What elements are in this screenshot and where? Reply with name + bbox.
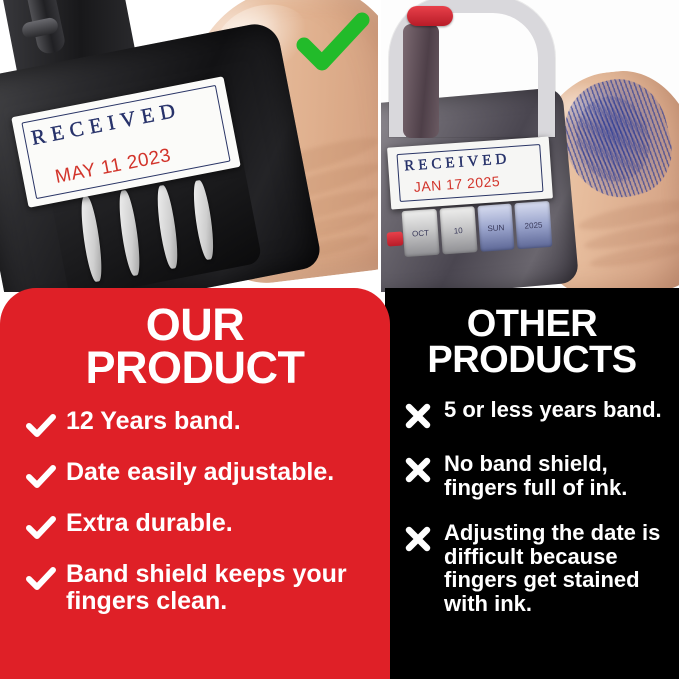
title-line-1: OUR <box>0 303 390 346</box>
drawback-text: 5 or less years band. <box>444 398 662 422</box>
x-icon <box>404 525 432 553</box>
band-lock-pin <box>387 231 404 246</box>
date-band: 10 <box>439 206 477 254</box>
other-products-title: OTHER PRODUCTS <box>385 306 679 379</box>
other-products-drawback-list: 5 or less years band. No band shield, fi… <box>404 398 666 637</box>
feature-text: Date easily adjustable. <box>66 459 334 486</box>
plate-border: RECEIVED JAN 17 2025 <box>397 144 544 202</box>
title-line-1: OTHER <box>385 306 679 342</box>
drawback-text: Adjusting the date is difficult because … <box>444 521 666 615</box>
feature-item: Date easily adjustable. <box>26 459 374 490</box>
feature-text: Extra durable. <box>66 510 233 537</box>
x-icon <box>404 456 432 484</box>
check-icon <box>26 566 56 592</box>
title-line-2: PRODUCTS <box>385 342 679 378</box>
our-product-feature-list: 12 Years band. Date easily adjustable. E… <box>26 408 374 635</box>
stamp-post <box>403 24 439 138</box>
drawback-item: 5 or less years band. <box>404 398 666 430</box>
date-band: SUN <box>477 204 515 252</box>
feature-item: Band shield keeps your fingers clean. <box>26 561 374 615</box>
photo-divider <box>378 0 381 292</box>
title-line-2: PRODUCT <box>0 346 390 389</box>
stamp-red-button <box>407 6 453 26</box>
check-icon <box>26 515 56 541</box>
feature-text: Band shield keeps your fingers clean. <box>66 561 374 615</box>
check-icon <box>26 464 56 490</box>
date-band: 2025 <box>515 201 553 249</box>
stamp-date: MAY 11 2023 <box>53 145 173 189</box>
drawback-text: No band shield, fingers full of ink. <box>444 452 666 499</box>
stamp-word: RECEIVED <box>404 150 535 176</box>
feature-item: 12 Years band. <box>26 408 374 439</box>
our-product-photo: RECEIVED MAY 11 2023 <box>0 0 378 292</box>
feature-text: 12 Years band. <box>66 408 241 435</box>
product-comparison-infographic: RECEIVED MAY 11 2023 <box>0 0 679 679</box>
comparison-panels: OTHER PRODUCTS OUR PRODUCT 12 Years band… <box>0 288 679 679</box>
check-icon <box>26 413 56 439</box>
drawback-item: No band shield, fingers full of ink. <box>404 452 666 499</box>
our-product-title: OUR PRODUCT <box>0 303 390 389</box>
other-products-photo: RECEIVED JAN 17 2025 OCT 10 SUN 2025 <box>381 0 679 292</box>
feature-item: Extra durable. <box>26 510 374 541</box>
stamp-impression-plate: RECEIVED JAN 17 2025 <box>387 136 553 209</box>
photo-row: RECEIVED MAY 11 2023 <box>0 0 679 292</box>
green-check-icon <box>296 12 370 74</box>
x-icon <box>404 402 432 430</box>
date-band: OCT <box>402 209 440 257</box>
drawback-item: Adjusting the date is difficult because … <box>404 521 666 615</box>
stamp-date: JAN 17 2025 <box>413 173 500 195</box>
